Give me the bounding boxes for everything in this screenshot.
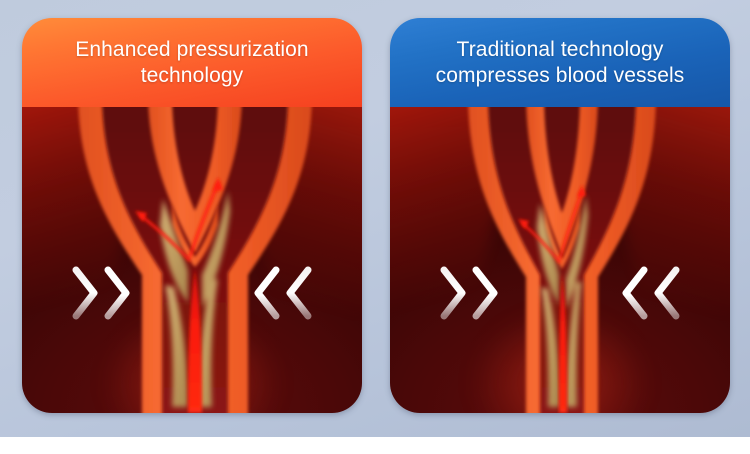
panel-title-enhanced: Enhanced pressurization technology bbox=[75, 37, 308, 89]
chevron-left-icon bbox=[652, 265, 682, 321]
panel-traditional-technology[interactable]: Traditional technology compresses blood … bbox=[390, 18, 730, 413]
chevron-right-icon bbox=[70, 265, 100, 321]
panel-header-traditional: Traditional technology compresses blood … bbox=[390, 18, 730, 107]
chevron-right-icon bbox=[438, 265, 468, 321]
chevron-right-icon bbox=[102, 265, 132, 321]
panel-title-traditional: Traditional technology compresses blood … bbox=[436, 37, 685, 89]
chevron-left-icon bbox=[252, 265, 282, 321]
compression-arrows-left-traditional bbox=[438, 265, 500, 321]
compression-arrows-left-enhanced bbox=[70, 265, 132, 321]
panel-header-enhanced: Enhanced pressurization technology bbox=[22, 18, 362, 107]
vessel-diagram-open bbox=[22, 107, 362, 413]
compression-arrows-right-traditional bbox=[620, 265, 682, 321]
vessel-diagram-compressed bbox=[390, 107, 730, 413]
illustration-artery-compressed bbox=[390, 107, 730, 413]
chevron-left-icon bbox=[284, 265, 314, 321]
compression-arrows-right-enhanced bbox=[252, 265, 314, 321]
illustration-artery-open bbox=[22, 107, 362, 413]
comparison-figure: Enhanced pressurization technology bbox=[0, 0, 750, 454]
chevron-left-icon bbox=[620, 265, 650, 321]
footer-strip bbox=[0, 437, 750, 454]
panel-enhanced-pressurization[interactable]: Enhanced pressurization technology bbox=[22, 18, 362, 413]
chevron-right-icon bbox=[470, 265, 500, 321]
